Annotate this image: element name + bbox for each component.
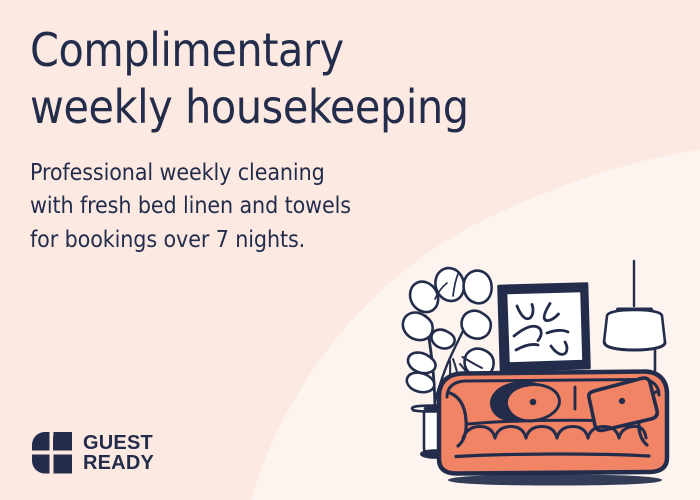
promo-banner: Complimentary weekly housekeeping Profes…	[0, 0, 700, 500]
text-block: Complimentary weekly housekeeping Profes…	[30, 22, 590, 257]
page-title: Complimentary weekly housekeeping	[30, 22, 590, 136]
guest-ready-mark-icon	[32, 432, 72, 474]
living-room-illustration	[390, 258, 690, 500]
sofa-icon	[439, 371, 667, 485]
brand-logo[interactable]: GUEST READY	[32, 432, 154, 474]
pendant-lamp-icon	[604, 261, 665, 373]
framed-picture-icon	[499, 284, 590, 372]
page-subtitle: Professional weekly cleaning with fresh …	[30, 157, 590, 257]
logo-wordmark: GUEST READY	[83, 433, 154, 474]
